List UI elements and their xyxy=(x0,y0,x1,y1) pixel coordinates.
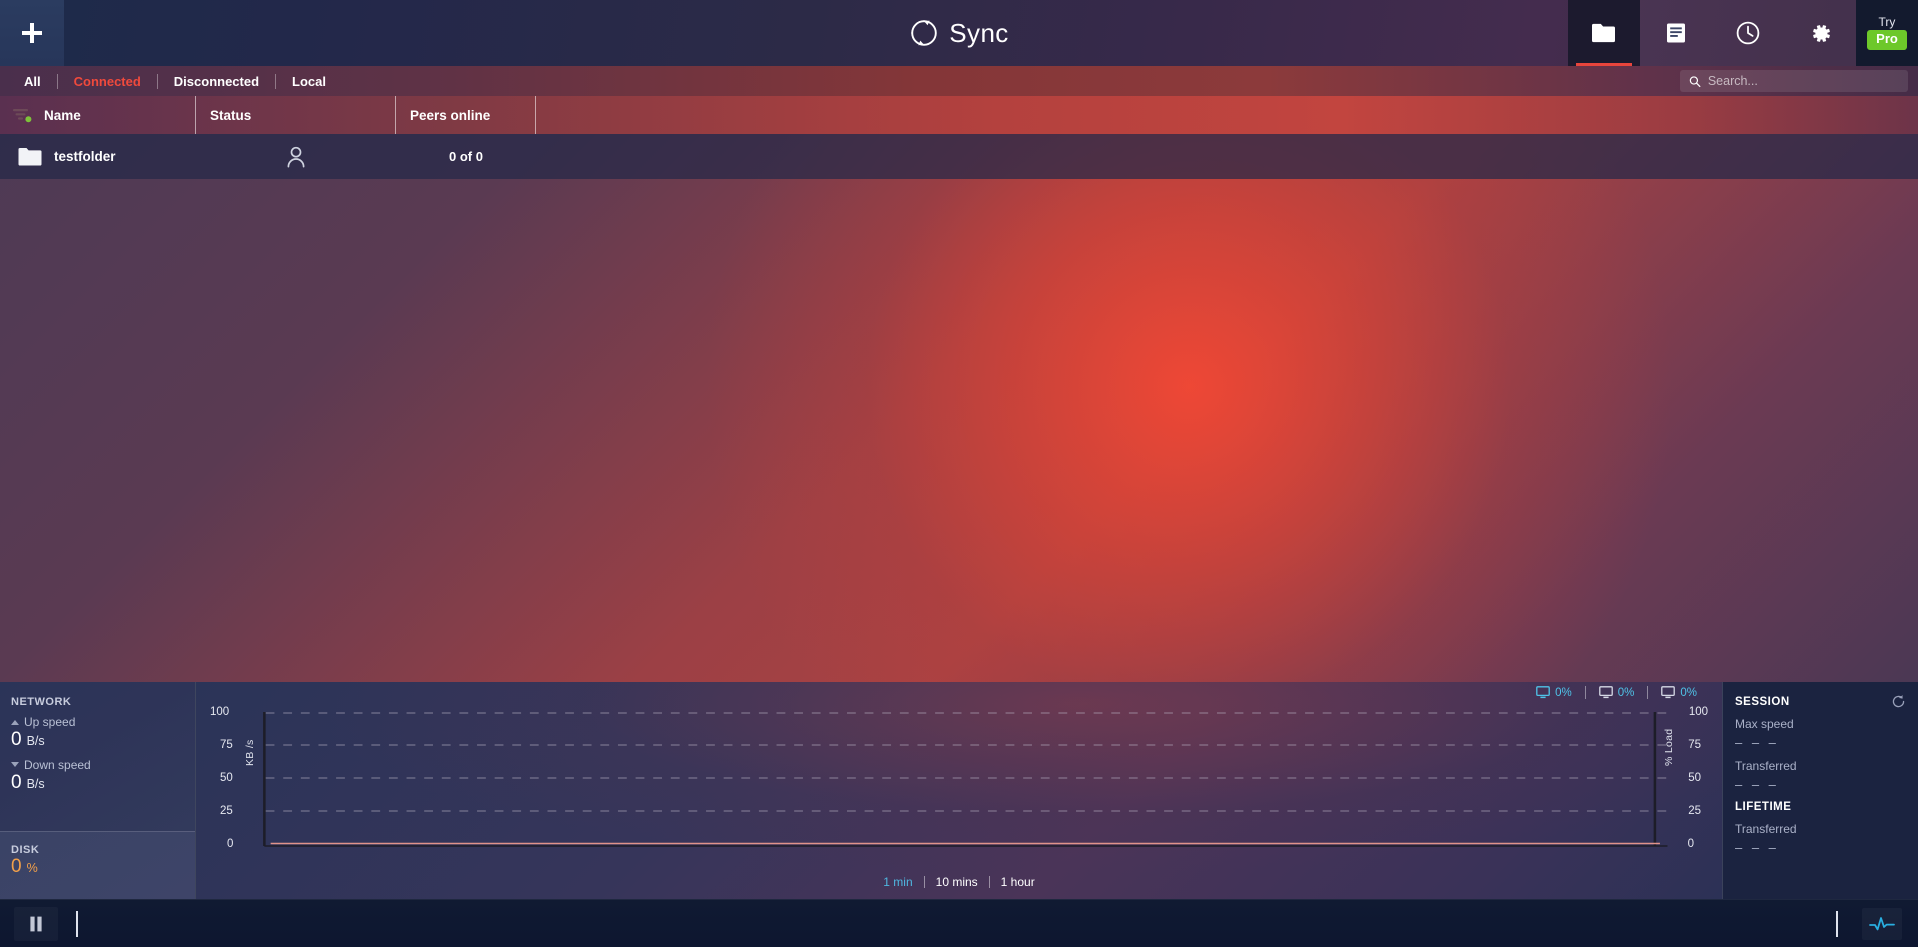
session-transferred-label: Transferred xyxy=(1735,759,1918,773)
up-speed-value: 0 xyxy=(11,730,22,751)
status-bar-right xyxy=(1836,908,1918,940)
up-speed-label: Up speed xyxy=(24,715,75,729)
nav-settings-button[interactable] xyxy=(1784,0,1856,66)
row-status-cell xyxy=(196,146,396,168)
column-header-name[interactable]: Name xyxy=(0,96,196,134)
load-value-1: 0% xyxy=(1555,687,1572,699)
down-speed-unit: B/s xyxy=(27,777,45,791)
ytick-left-0: 0 xyxy=(227,838,233,850)
monitor-icon xyxy=(1536,686,1550,699)
time-range-1min[interactable]: 1 min xyxy=(872,875,923,889)
load-indicator-2[interactable]: 0% xyxy=(1586,686,1648,699)
row-folder-name: testfolder xyxy=(54,149,116,164)
table-header: Name Status Peers online xyxy=(0,96,1918,134)
table-row[interactable]: testfolder 0 of 0 xyxy=(0,134,1918,179)
plus-icon xyxy=(19,20,45,46)
filter-tab-connected[interactable]: Connected xyxy=(58,74,157,89)
disk-value-row: 0 % xyxy=(11,857,195,878)
chart-plot-area xyxy=(248,712,1670,852)
column-header-status[interactable]: Status xyxy=(196,96,396,134)
ytick-right-0: 0 xyxy=(1688,838,1694,850)
dashboard: NETWORK Up speed 0 B/s Down speed 0 B/s xyxy=(0,682,1918,899)
status-divider xyxy=(76,911,78,937)
pause-syncing-button[interactable] xyxy=(14,907,58,941)
network-title: NETWORK xyxy=(11,696,195,708)
column-header-peers[interactable]: Peers online xyxy=(396,96,536,134)
folders-icon xyxy=(1591,22,1617,44)
load-value-2: 0% xyxy=(1618,687,1635,699)
search-input[interactable] xyxy=(1708,74,1899,88)
lifetime-transferred-value: – – – xyxy=(1735,840,1918,855)
history-clock-icon xyxy=(1735,20,1761,46)
ytick-left-50: 50 xyxy=(220,772,233,784)
nav-history-button[interactable] xyxy=(1712,0,1784,66)
session-max-speed-label: Max speed xyxy=(1735,717,1918,731)
folder-list-area: testfolder 0 of 0 xyxy=(0,134,1918,682)
down-speed-value-row: 0 B/s xyxy=(11,773,195,794)
ytick-right-100: 100 xyxy=(1689,706,1708,718)
column-header-peers-label: Peers online xyxy=(410,108,490,123)
filter-funnel-icon[interactable] xyxy=(0,107,44,123)
ytick-right-25: 25 xyxy=(1688,805,1701,817)
nav-devices-button[interactable] xyxy=(1640,0,1712,66)
documents-icon xyxy=(1664,21,1688,45)
disk-title: DISK xyxy=(11,844,195,856)
pause-icon xyxy=(28,915,44,933)
lifetime-title: LIFETIME xyxy=(1735,801,1918,813)
lifetime-transferred-label: Transferred xyxy=(1735,822,1918,836)
add-folder-button[interactable] xyxy=(0,0,64,66)
up-speed-unit: B/s xyxy=(27,734,45,748)
load-indicator-3[interactable]: 0% xyxy=(1648,686,1710,699)
activity-toggle-button[interactable] xyxy=(1862,908,1902,940)
time-range-selector: 1 min 10 mins 1 hour xyxy=(196,875,1722,889)
column-header-filler xyxy=(536,96,1918,134)
folder-icon xyxy=(18,147,42,166)
network-speed-chart: 100 75 50 25 0 KB /s 100 75 50 25 0 % Lo… xyxy=(196,706,1722,861)
sync-app-window: Sync xyxy=(0,0,1918,947)
load-indicator-1[interactable]: 0% xyxy=(1523,686,1585,699)
ytick-left-100: 100 xyxy=(210,706,229,718)
filter-bar: All Connected Disconnected Local xyxy=(0,66,1918,96)
session-spacer xyxy=(1735,792,1918,801)
titlebar-icon-group: Try Pro xyxy=(1568,0,1918,66)
ytick-right-75: 75 xyxy=(1688,739,1701,751)
stats-panel: NETWORK Up speed 0 B/s Down speed 0 B/s xyxy=(0,682,196,899)
row-name-cell: testfolder xyxy=(0,147,196,166)
arrow-down-icon xyxy=(11,762,19,767)
titlebar-spacer xyxy=(64,0,1568,66)
up-speed-label-row: Up speed xyxy=(11,715,195,729)
search-icon xyxy=(1689,75,1701,88)
time-range-1hour[interactable]: 1 hour xyxy=(990,875,1046,889)
disk-section: DISK 0 % xyxy=(0,831,195,899)
monitor-icon xyxy=(1661,686,1675,699)
pro-badge: Pro xyxy=(1867,30,1907,49)
nav-folders-button[interactable] xyxy=(1568,0,1640,66)
gear-settings-icon xyxy=(1807,20,1833,46)
network-section: NETWORK Up speed 0 B/s Down speed 0 B/s xyxy=(0,682,195,831)
try-pro-button[interactable]: Try Pro xyxy=(1856,0,1918,66)
filter-tab-local[interactable]: Local xyxy=(276,74,342,89)
session-panel: SESSION Max speed – – – Transferred – – … xyxy=(1722,682,1918,899)
filter-tab-all[interactable]: All xyxy=(8,74,57,89)
up-speed-value-row: 0 B/s xyxy=(11,730,195,751)
ytick-left-25: 25 xyxy=(220,805,233,817)
session-max-speed-value: – – – xyxy=(1735,735,1918,750)
disk-unit: % xyxy=(27,861,38,875)
row-peers-cell: 0 of 0 xyxy=(396,149,536,164)
time-range-10mins[interactable]: 10 mins xyxy=(925,875,989,889)
try-label: Try xyxy=(1879,16,1896,28)
monitor-icon xyxy=(1599,686,1613,699)
filter-tab-disconnected[interactable]: Disconnected xyxy=(158,74,275,89)
arrow-up-icon xyxy=(11,720,19,725)
search-box[interactable] xyxy=(1680,70,1908,92)
reset-arrow-icon[interactable] xyxy=(1891,694,1906,714)
down-speed-value: 0 xyxy=(11,773,22,794)
person-icon xyxy=(286,146,306,168)
status-bar xyxy=(0,899,1918,947)
column-header-status-label: Status xyxy=(210,108,251,123)
load-indicator-group: 0% 0% 0% xyxy=(1523,686,1710,699)
ytick-left-75: 75 xyxy=(220,739,233,751)
title-bar: Sync xyxy=(0,0,1918,66)
status-divider-right xyxy=(1836,911,1838,937)
down-speed-label: Down speed xyxy=(24,758,91,772)
disk-value: 0 xyxy=(11,857,22,878)
ytick-right-50: 50 xyxy=(1688,772,1701,784)
load-value-3: 0% xyxy=(1680,687,1697,699)
session-transferred-value: – – – xyxy=(1735,777,1918,792)
down-speed-label-row: Down speed xyxy=(11,758,195,772)
column-header-name-label: Name xyxy=(44,108,81,123)
activity-pulse-icon xyxy=(1869,915,1895,933)
chart-panel: 0% 0% 0% xyxy=(196,682,1722,899)
